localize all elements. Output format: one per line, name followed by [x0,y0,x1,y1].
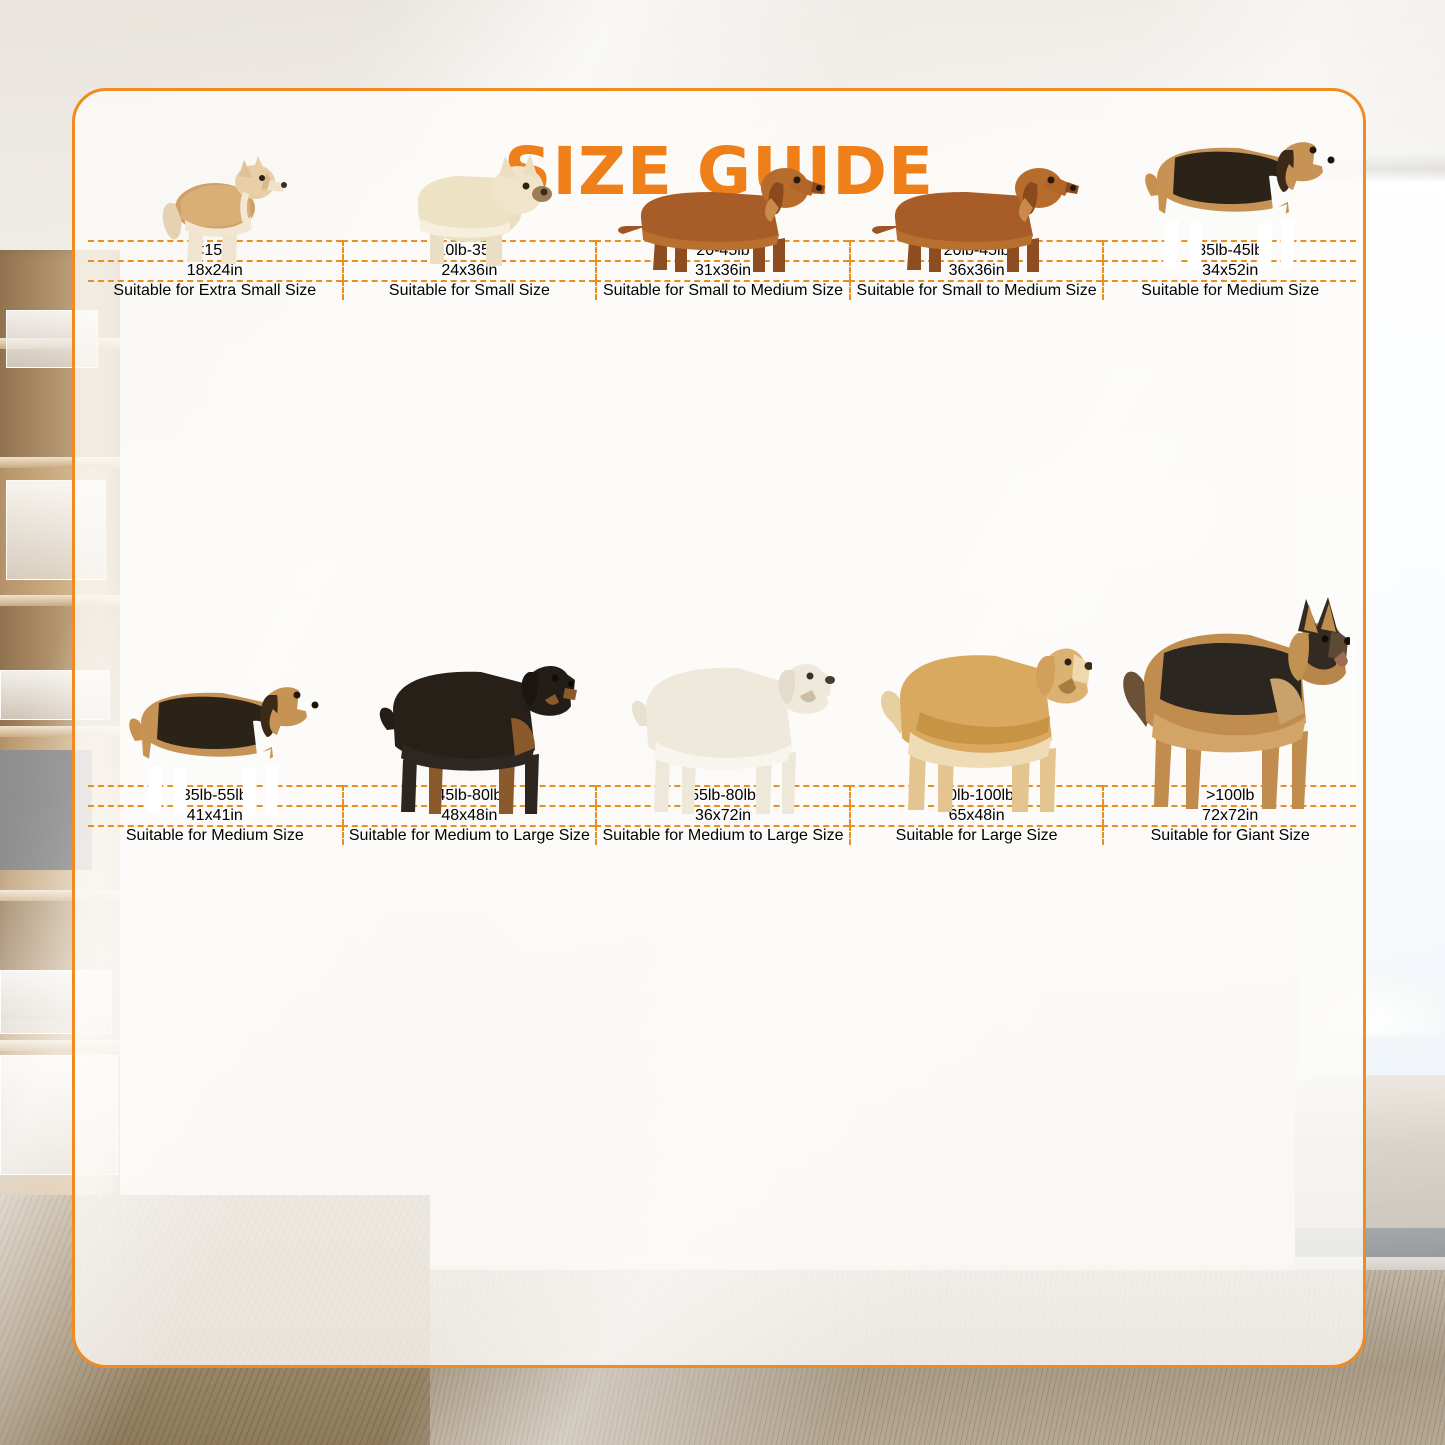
dimension-cell: 72x72in [1102,805,1356,825]
suitability-cell: Suitable for Medium to Large Size [595,825,849,845]
suitability-text: Suitable for Giant Size [1151,827,1310,845]
page-title: SIZE GUIDE [75,91,1363,205]
weight-cell: 20-45lb [595,240,849,260]
suitability-text: Suitable for Medium to Large Size [349,827,590,845]
suitability-text: Suitable for Extra Small Size [113,282,316,300]
suitability-text: Suitable for Small Size [389,282,550,300]
dimension-cell: 36x72in [595,805,849,825]
weight-cell: 35lb-45lb [1102,240,1356,260]
weight-cell: 35lb-55lb [88,785,342,805]
suitability-cell: Suitable for Giant Size [1102,825,1356,845]
suitability-cell: Suitable for Medium Size [88,825,342,845]
suitability-text: Suitable for Medium Size [1141,282,1319,300]
suitability-text: Suitable for Small to Medium Size [857,282,1097,300]
weight-cell: 55lb-80lb [595,785,849,805]
dimension-cell: 34x52in [1102,260,1356,280]
suitability-cell: Suitable for Small to Medium Size [849,280,1103,300]
suitability-cell: Suitable for Small Size [342,280,596,300]
suitability-cell: Suitable for Large Size [849,825,1103,845]
suitability-cell: Suitable for Small to Medium Size [595,280,849,300]
dimension-cell: 65x48in [849,805,1103,825]
dimension-cell: 24x36in [342,260,596,280]
size-table-section-2: 35lb-55lb 45lb-80lb 55lb-80lb 80lb-100lb… [88,785,1356,845]
dimension-cell: 36x36in [849,260,1103,280]
weight-cell: 20lb-45lb [849,240,1103,260]
dimension-cell: 48x48in [342,805,596,825]
dimension-cell: 31x36in [595,260,849,280]
dimension-cell: 41x41in [88,805,342,825]
suitability-cell: Suitable for Medium to Large Size [342,825,596,845]
size-table-section-1: <15lb 10lb-35lb 20-45lb 20lb-45lb 35lb-4… [88,240,1356,300]
suitability-text: Suitable for Small to Medium Size [603,282,843,300]
weight-cell: 45lb-80lb [342,785,596,805]
background-scene: SIZE GUIDE <15lb 10lb-35lb 20-45lb 20lb-… [0,0,1445,1445]
suitability-text: Suitable for Medium to Large Size [602,827,843,845]
suitability-cell: Suitable for Extra Small Size [88,280,342,300]
dimension-cell: 18x24in [88,260,342,280]
suitability-text: Suitable for Medium Size [126,827,304,845]
suitability-cell: Suitable for Medium Size [1102,280,1356,300]
weight-cell: >100lb [1102,785,1356,805]
size-guide-panel: SIZE GUIDE <15lb 10lb-35lb 20-45lb 20lb-… [72,88,1366,1368]
weight-cell: 80lb-100lb [849,785,1103,805]
weight-cell: <15lb [88,240,342,260]
suitability-text: Suitable for Large Size [896,827,1058,845]
weight-cell: 10lb-35lb [342,240,596,260]
